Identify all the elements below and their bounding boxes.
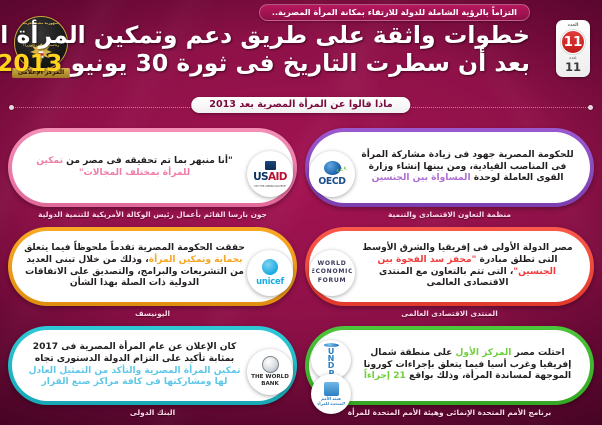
subtitle-pill: ماذا قالوا عن المرأة المصرية بعد 2013 bbox=[191, 97, 410, 113]
world-bank-wordmark: THE WORLDBANK bbox=[251, 374, 289, 387]
quote-segment: تمكين المرأة المصرية والتأكد من التمثيل … bbox=[29, 366, 241, 388]
usaid-wordmark: USAID bbox=[253, 171, 287, 183]
card-quote-text: كان الإعلان عن عام المرأة المصرية فى 201… bbox=[22, 342, 247, 389]
issue-badge-caption: العدد bbox=[556, 23, 590, 28]
usaid-tagline: FROM THE AMERICAN PEOPLE bbox=[251, 184, 289, 188]
quote-segment: 21 إجراءاً bbox=[364, 371, 406, 381]
unicef-globe-icon bbox=[262, 259, 278, 275]
quote-card-worldbank[interactable]: كان الإعلان عن عام المرأة المصرية فى 201… bbox=[8, 324, 297, 419]
quote-card-oecd[interactable]: للحكومة المصرية جهود فى زيادة مشاركة الم… bbox=[305, 126, 594, 221]
subtitle-dot-left bbox=[9, 105, 14, 110]
title-line-2: بعد أن سطرت التاريخ فى ثورة 30 يونيو 201… bbox=[78, 50, 530, 77]
world-bank-globe-icon bbox=[262, 356, 279, 373]
quote-card-grid: للحكومة المصرية جهود فى زيادة مشاركة الم… bbox=[8, 126, 594, 419]
usaid-logo: USAID FROM THE AMERICAN PEOPLE bbox=[247, 151, 293, 197]
un-women-emblem-icon bbox=[324, 382, 339, 396]
card-quote-text: "أنا منبهر بما تم تحقيقه فى مصر من تمكين… bbox=[22, 156, 247, 180]
title-line-2-text: بعد أن سطرت التاريخ فى ثورة 30 يونيو bbox=[62, 49, 530, 77]
card-inner: احتلت مصر المركز الأول على منطقة شمال إف… bbox=[309, 330, 590, 401]
card-quote-text: للحكومة المصرية جهود فى زيادة مشاركة الم… bbox=[355, 150, 580, 185]
quote-segment: احتلت مصر bbox=[511, 348, 564, 358]
card-caption: منظمة التعاون الاقتصادى والتنمية bbox=[305, 207, 594, 221]
subtitle-dot-right bbox=[588, 105, 593, 110]
card-quote-text: مصر الدولة الأولى فى إفريقيا والشرق الأو… bbox=[355, 243, 580, 290]
subtitle-row: ماذا قالوا عن المرأة المصرية بعد 2013 bbox=[0, 97, 602, 117]
quote-card-wef[interactable]: مصر الدولة الأولى فى إفريقيا والشرق الأو… bbox=[305, 225, 594, 320]
wef-wordmark: WORLDECONOMICFORUM bbox=[311, 260, 354, 284]
title-year: 2013 bbox=[0, 49, 62, 77]
un-women-logo: هيئة الأمم المتحدة للمرأة bbox=[311, 374, 351, 414]
top-banner: التزاماً بالرؤية الشاملة للدولة للارتقاء… bbox=[259, 4, 530, 21]
un-women-wordmark: هيئة الأمم المتحدة للمرأة bbox=[314, 397, 348, 406]
issue-badge: العدد 11 عدد 11 bbox=[556, 20, 590, 77]
undp-wordmark: UNDP bbox=[328, 348, 335, 377]
page-title: خطوات واثقة على طريق دعم وتمكين المرأة ا… bbox=[78, 22, 530, 77]
quote-card-unicef[interactable]: حققت الحكومة المصرية تقدماً ملحوظاً فيما… bbox=[8, 225, 297, 320]
card-caption: برنامج الأمم المتحدة الإنمائى وهيئة الأم… bbox=[305, 405, 594, 419]
card-caption: اليونيسف bbox=[8, 306, 297, 320]
card-caption: البنك الدولى bbox=[8, 405, 297, 419]
quote-segment: المساواة بين الجنسين bbox=[372, 173, 471, 183]
quote-card-usaid[interactable]: "أنا منبهر بما تم تحقيقه فى مصر من تمكين… bbox=[8, 126, 297, 221]
world-bank-logo: THE WORLDBANK bbox=[247, 349, 293, 395]
quote-segment: ، التى تتم بالتعاون مع المنتدى الاقتصادى… bbox=[379, 267, 513, 289]
quote-segment: كان الإعلان عن عام المرأة المصرية فى 201… bbox=[33, 342, 237, 364]
issue-badge-number-2: 11 bbox=[556, 61, 590, 73]
card-caption: المنتدى الاقتصادى العالمى bbox=[305, 306, 594, 320]
card-caption: جون بارسا القائم بأعمال رئيس الوكالة الأ… bbox=[8, 207, 297, 221]
card-quote-text: حققت الحكومة المصرية تقدماً ملحوظاً فيما… bbox=[22, 243, 247, 290]
usaid-seal-icon bbox=[264, 160, 277, 171]
oecd-wordmark: OECD bbox=[318, 176, 345, 187]
unicef-wordmark: unicef bbox=[256, 276, 284, 286]
quote-card-undp[interactable]: احتلت مصر المركز الأول على منطقة شمال إف… bbox=[305, 324, 594, 419]
oecd-logo: ››› OECD bbox=[309, 151, 355, 197]
unicef-logo: unicef bbox=[247, 250, 293, 296]
infographic-root: التزاماً بالرؤية الشاملة للدولة للارتقاء… bbox=[0, 0, 602, 425]
card-quote-text: احتلت مصر المركز الأول على منطقة شمال إف… bbox=[355, 348, 580, 383]
title-line-1: خطوات واثقة على طريق دعم وتمكين المرأة ا… bbox=[78, 22, 530, 49]
quote-segment: بحماية وتمكين المرأة bbox=[149, 255, 243, 265]
quote-segment: حققت الحكومة المصرية تقدماً ملحوظاً فيما… bbox=[24, 243, 245, 253]
quote-segment: "أنا منبهر بما تم تحقيقه فى مصر من bbox=[63, 156, 233, 166]
world-economic-forum-logo: WORLDECONOMICFORUM bbox=[309, 250, 355, 296]
quote-segment: المركز الأول bbox=[456, 348, 512, 358]
issue-badge-number: 11 bbox=[561, 30, 585, 54]
